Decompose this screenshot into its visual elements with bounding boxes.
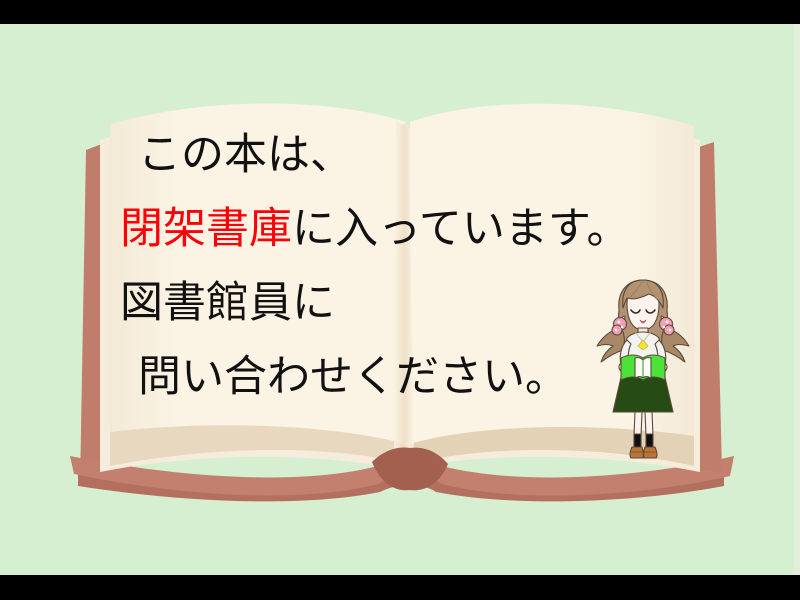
girl-reading-illustration <box>583 272 703 464</box>
message-line-2: 閉架書庫に入っています。 <box>120 192 680 266</box>
slide-canvas: この本は、 閉架書庫に入っています。 図書館員に 問い合わせください。 <box>0 0 800 600</box>
message-line-2-rest: に入っています。 <box>292 204 630 254</box>
message-highlight-closed-stacks: 閉架書庫 <box>120 204 292 254</box>
message-line-1: この本は、 <box>120 118 680 192</box>
letterbox-top <box>0 0 800 24</box>
letterbox-bottom <box>0 575 800 600</box>
